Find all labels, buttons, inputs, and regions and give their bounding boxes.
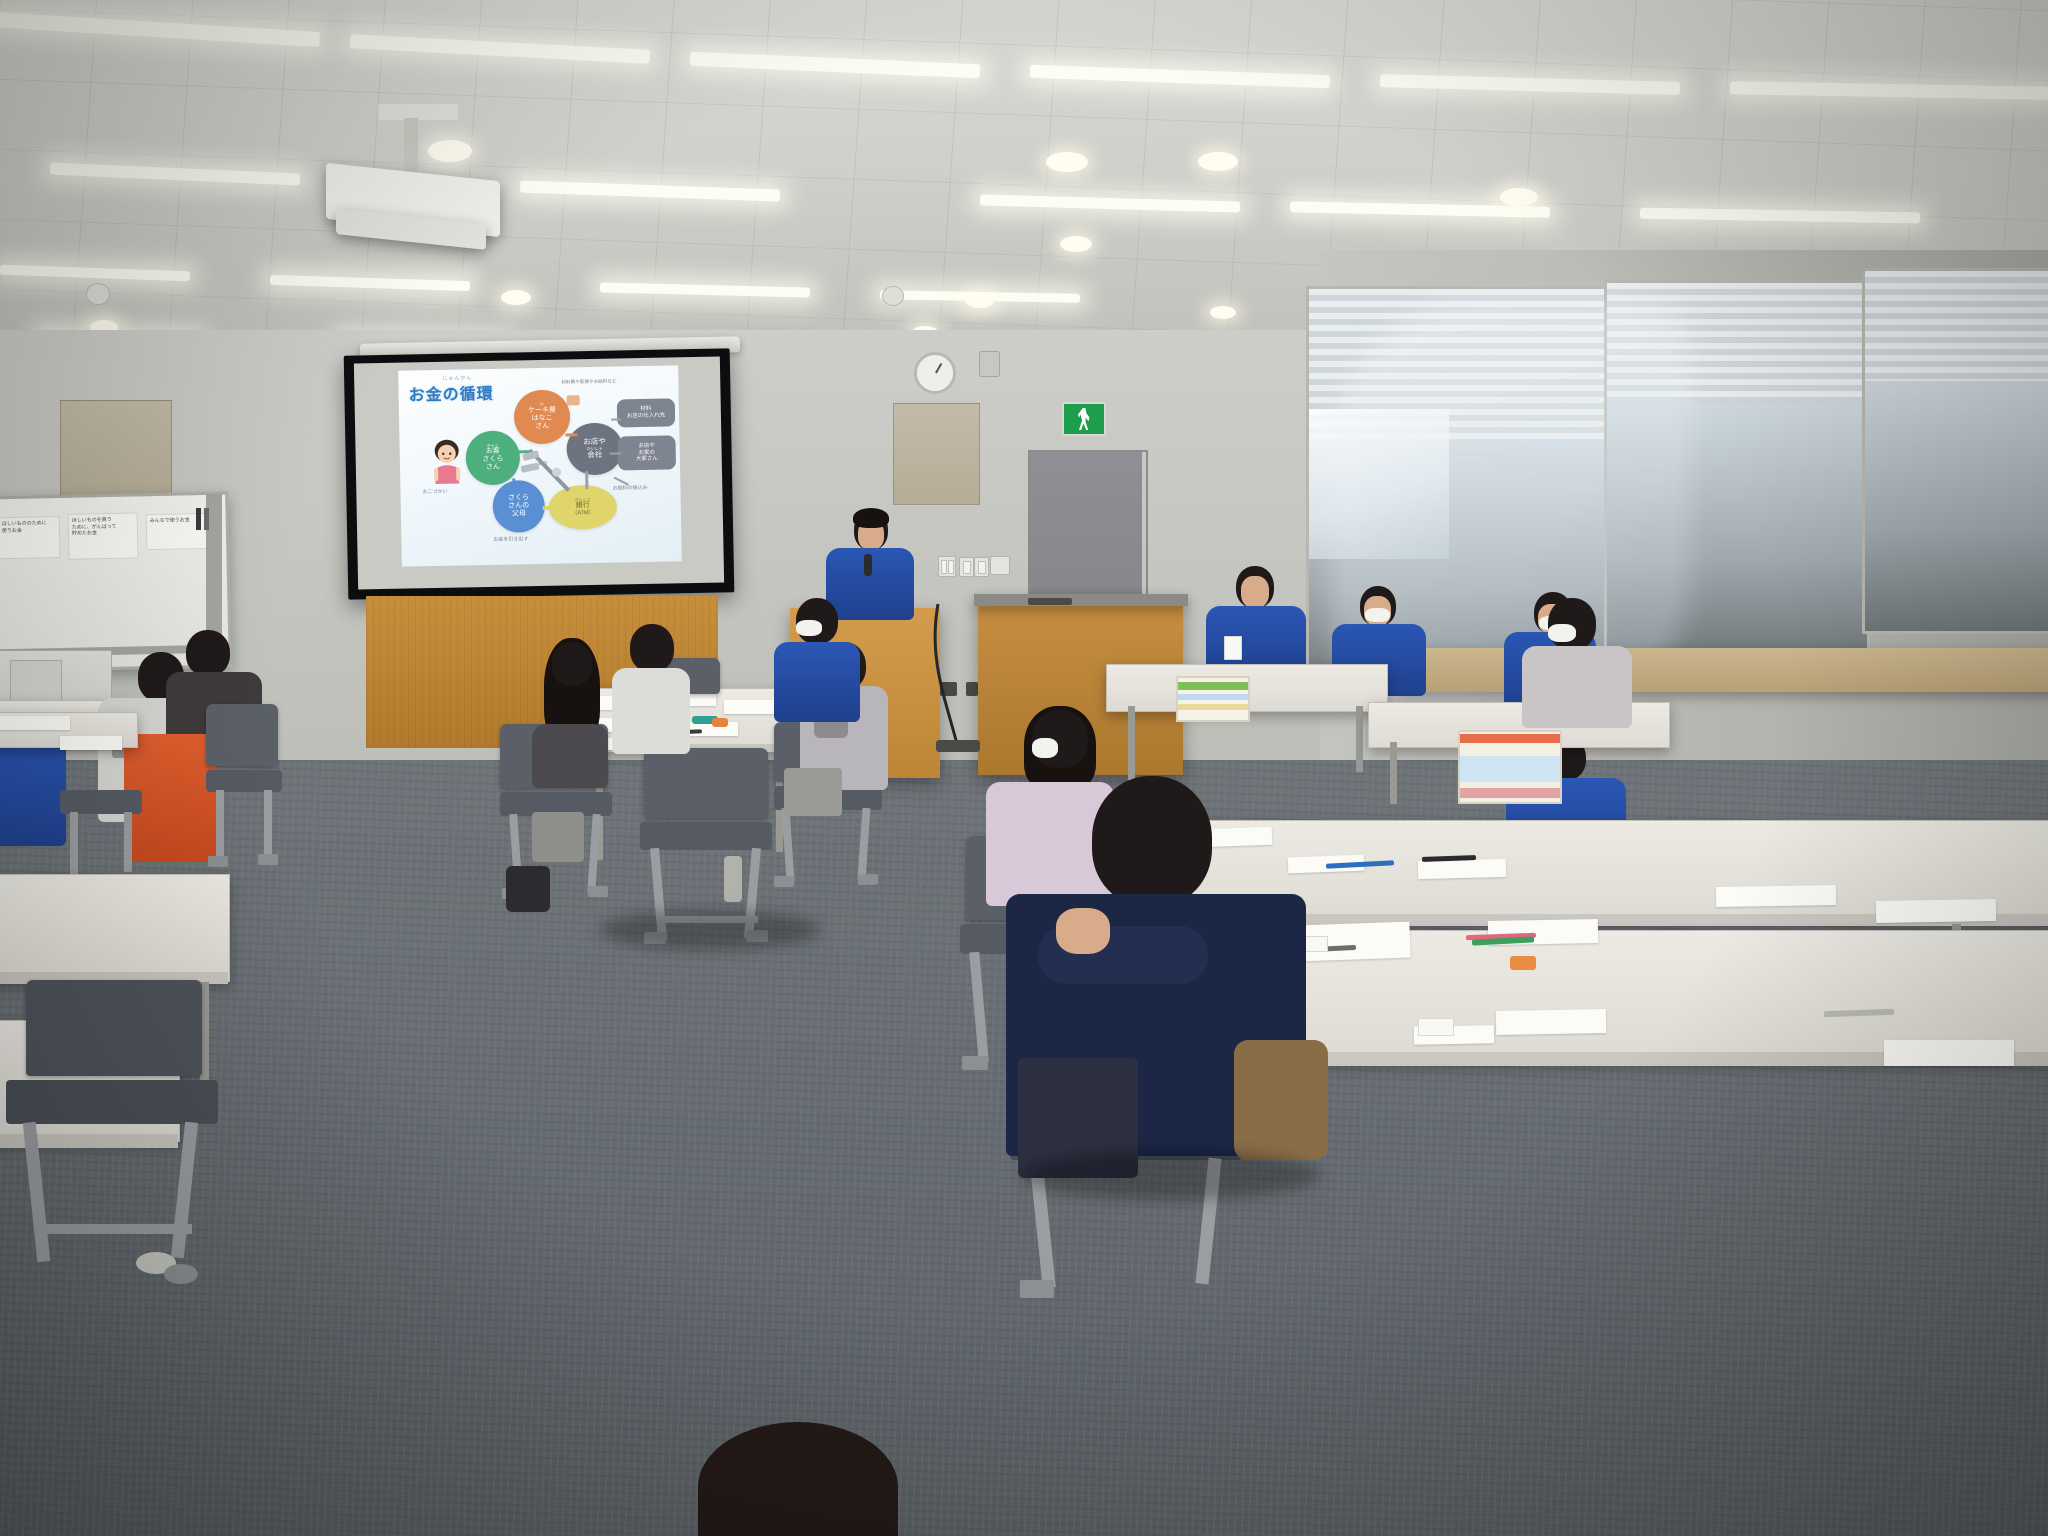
parent-front-left	[774, 598, 860, 722]
lectern-equipment	[1028, 598, 1072, 605]
eraser[interactable]	[1510, 956, 1536, 970]
presenter-hair	[853, 508, 889, 528]
lectern-top	[974, 594, 1188, 606]
downlight	[428, 140, 472, 162]
poster-band-top	[1460, 734, 1560, 743]
chair-caster	[164, 1264, 198, 1284]
chair-left-1[interactable]	[206, 704, 280, 874]
light-switch-plate[interactable]	[990, 556, 1010, 575]
staff-1-lanyard-badge	[1224, 636, 1242, 660]
wall-clock	[914, 352, 956, 394]
chair-leg	[171, 1122, 198, 1259]
foreground-head	[698, 1422, 898, 1536]
whiteboard-paper-2-line3: 貯めたお金	[72, 530, 97, 537]
handout-paper[interactable]	[0, 716, 70, 730]
spot-light	[86, 283, 110, 305]
microphone[interactable]	[864, 554, 872, 576]
child-1	[526, 638, 608, 788]
slide-node-cakeshop-line3: さん	[535, 423, 549, 431]
cable-floor-box	[936, 740, 980, 752]
name-card	[1418, 1018, 1454, 1036]
whiteboard-paper-3-line1: みんなで使うお金	[150, 517, 190, 524]
chair-crossbar	[36, 1224, 192, 1234]
slide-connector	[512, 478, 515, 488]
handout-paper[interactable]	[1884, 1040, 2014, 1066]
table-sign-right-back	[1176, 676, 1250, 722]
parent-jacket	[774, 642, 860, 722]
marker-orange[interactable]	[712, 718, 728, 727]
child-legs	[532, 812, 584, 862]
slide-node-bank-line2: （ATM）	[572, 510, 594, 517]
chair-leg	[969, 952, 989, 1062]
slide-callout-landlord: お店や お家の 大家さん	[617, 435, 676, 470]
child-legs	[784, 768, 842, 816]
slide-node-bank: ぎんこう 銀行 （ATM）	[548, 485, 617, 530]
handout-paper[interactable]	[724, 700, 776, 714]
handout-paper[interactable]	[1716, 885, 1836, 907]
slide-node-cakeshop: や ケーキ屋 はなこ さん	[514, 389, 571, 444]
handout-paper[interactable]	[1418, 859, 1506, 879]
child-1-top	[532, 724, 608, 788]
child-2	[612, 624, 690, 754]
slide-connector	[585, 471, 588, 489]
downlight	[966, 294, 994, 308]
whiteboard-paper-1-line1: ほしいもののために	[2, 520, 47, 527]
slide-callout-landlord-line3: 大家さん	[636, 456, 658, 463]
floor-shadow	[600, 910, 820, 950]
staff-2-face-mask	[1365, 608, 1390, 622]
downlight	[1500, 188, 1538, 206]
downlight	[1198, 152, 1238, 171]
slide-node-parents-line3: 父母	[512, 510, 526, 518]
slide-connector	[543, 506, 553, 510]
chair-caster	[208, 856, 228, 867]
staff-1-face	[1241, 576, 1269, 608]
downlight	[1210, 306, 1236, 319]
slide-node-company-line2: 会社	[587, 451, 602, 460]
chair-backrest	[206, 704, 278, 766]
slide-coin-icon	[521, 463, 540, 473]
sign-band	[1178, 694, 1248, 700]
slide-edge-label-withdraw: お金を引き出す	[493, 535, 528, 543]
slide-node-parents-line2: さんの	[508, 502, 529, 510]
chair-left-2[interactable]	[60, 790, 142, 880]
projector-mount-plate	[378, 104, 458, 120]
slide-node-customer: きゃく お客 さくら さん	[465, 430, 520, 485]
child-right-hand	[1056, 908, 1110, 954]
exit-running-man-icon	[1078, 408, 1090, 430]
table-leg	[1356, 706, 1363, 772]
attendee-far-right	[1522, 598, 1632, 728]
whiteboard-paper-2-line2: ために、がんばって	[72, 523, 117, 530]
downlight	[1046, 152, 1088, 172]
window-view	[1865, 381, 2048, 631]
table-poster-right	[1458, 730, 1562, 804]
exit-sign	[1062, 402, 1106, 436]
handout-paper[interactable]	[1876, 899, 1996, 923]
staff-1	[1206, 566, 1306, 676]
child-2-top	[612, 668, 690, 754]
slide-connector	[611, 418, 621, 420]
chair-left-front[interactable]	[6, 980, 214, 1310]
window-blind[interactable]	[1865, 271, 2048, 381]
slide-node-parents: さくら さんの 父母	[492, 480, 545, 533]
downlight	[501, 290, 531, 305]
wall-panel-left	[60, 400, 172, 507]
whiteboard-paper-1: ほしいもののために 使うお金	[0, 516, 60, 559]
child-2-head	[630, 624, 674, 672]
light-switch-plate[interactable]	[974, 557, 989, 577]
chair-caster	[774, 876, 794, 887]
chair-leg	[70, 812, 78, 874]
table-left-front	[0, 874, 230, 982]
table-leg	[1390, 742, 1397, 804]
slide-edge-label-salary: お給料の振込み	[612, 484, 647, 492]
child-1-head	[552, 642, 592, 686]
slide-node-customer-line3: さん	[486, 464, 500, 472]
slide-connector	[610, 452, 622, 454]
slide-node-company: お店や かいしゃ 会社	[566, 422, 623, 475]
attendee-right-1-face-mask	[1032, 738, 1058, 758]
chair-seat	[60, 790, 142, 814]
light-switch-plate[interactable]	[959, 557, 974, 577]
handout-paper[interactable]	[60, 736, 122, 750]
chair-leg	[781, 808, 794, 882]
chair-leg	[264, 790, 272, 858]
chair-seat	[206, 770, 282, 792]
chair-backrest	[644, 748, 768, 818]
spot-light	[882, 286, 904, 306]
slide-title: お金の循環	[408, 380, 493, 406]
chair-caster	[858, 874, 878, 885]
foreground-head-hair	[698, 1422, 898, 1536]
floor-shadow	[1020, 1150, 1320, 1200]
chair-caster	[588, 886, 608, 897]
attendee-far-right-mask	[1548, 624, 1576, 642]
slide-callout-supplier-line2: お店の仕入れ先	[627, 413, 666, 421]
light-switch-plate[interactable]	[938, 556, 956, 577]
backpack-on-floor	[506, 866, 550, 912]
attendee-left-3-jacket	[0, 736, 66, 846]
photo-scene: じゅんかん お金の循環 おこづかい きゃく お客 さくら さん や ケーキ屋 は…	[0, 0, 2048, 1536]
sign-band	[1178, 704, 1248, 710]
sign-band	[1178, 682, 1248, 690]
chair-leg	[587, 814, 600, 892]
chair-leg	[216, 790, 224, 860]
slide-coin-icon	[552, 468, 561, 477]
chair-leg	[857, 808, 870, 880]
child-right-head	[1092, 776, 1212, 906]
whiteboard-marker-clip-icon	[192, 506, 216, 536]
chair-seat	[640, 822, 772, 850]
table-leg	[1128, 706, 1135, 780]
chair-seat	[6, 1080, 218, 1124]
slide-cake-icon	[567, 395, 580, 405]
wall-speaker	[979, 351, 1000, 377]
whiteboard-paper-1-line2: 使うお金	[2, 527, 22, 533]
child-clipart-icon	[429, 437, 464, 486]
attendee-left-2-head	[186, 630, 230, 676]
whiteboard-paper-2: ほしいものを買う ために、がんばって 貯めたお金	[68, 512, 139, 559]
chair-caster	[1020, 1280, 1054, 1298]
attendee-far-right-top	[1522, 646, 1632, 728]
slide-callout-supplier: 材料 お店の仕入れ先	[617, 398, 676, 427]
chair-caster	[258, 854, 278, 865]
poster-band-bottom	[1460, 788, 1560, 798]
poster-band-mid	[1460, 756, 1560, 782]
water-bottle[interactable]	[724, 856, 742, 902]
handout-paper[interactable]	[1496, 1009, 1606, 1035]
chair-leg	[124, 812, 132, 872]
chair-caster	[962, 1056, 988, 1070]
slide-connector	[565, 433, 577, 436]
wall-panel-center	[893, 403, 980, 505]
window	[1862, 268, 2048, 634]
chair-leg	[23, 1122, 51, 1263]
chair-backrest	[26, 980, 202, 1076]
window-ledge	[1396, 648, 2048, 692]
shoe	[1234, 1040, 1328, 1160]
slide-edge-label-pay: おこづかい	[422, 488, 447, 495]
projected-slide: じゅんかん お金の循環 おこづかい きゃく お客 さくら さん や ケーキ屋 は…	[398, 365, 682, 566]
downlight	[1060, 236, 1092, 252]
parent-face-mask	[796, 620, 822, 636]
slide-callout-materials: 材料費や家賃やお給料など	[561, 377, 676, 385]
